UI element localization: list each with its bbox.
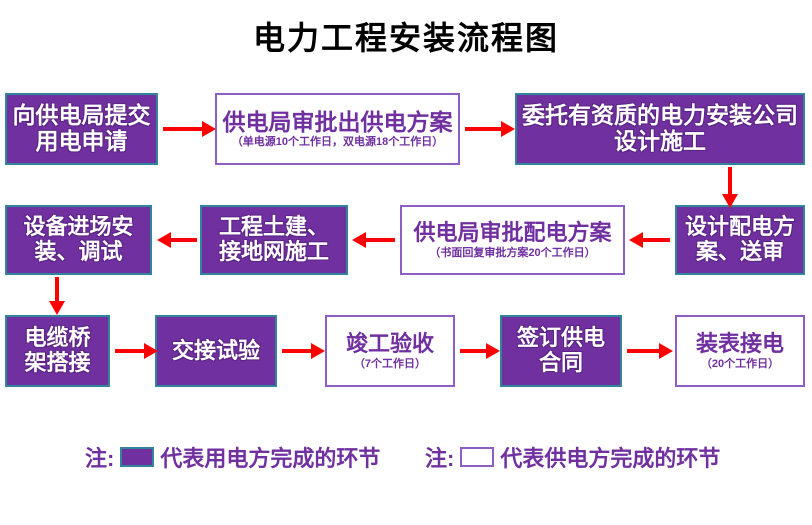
legend-customer-prefix: 注: [85, 441, 114, 473]
flow-node-sublabel: （7个工作日） [354, 358, 426, 370]
legend-utility-swatch [460, 447, 494, 467]
flow-node-handover-test[interactable]: 交接试验 [155, 315, 277, 387]
flow-node-civil-grounding-works[interactable]: 工程土建、 接地网施工 [200, 205, 348, 275]
flow-node-label: 工程土建、 接地网施工 [219, 215, 329, 264]
arrow-head-icon [144, 343, 158, 359]
flow-arrow-civil-to-equipment [170, 238, 197, 242]
arrow-head-icon [157, 232, 171, 248]
flow-node-label: 供电局审批出供电方案 [223, 110, 453, 136]
flow-node-label: 设计配电方 案、送审 [685, 215, 795, 264]
flow-node-approve-distribution-plan[interactable]: 供电局审批配电方案（书面回复审批方案20个工作日） [400, 205, 625, 275]
flow-node-label: 签订供电 合同 [517, 326, 605, 375]
arrow-head-icon [49, 301, 65, 315]
flow-node-label: 电缆桥 架搭接 [24, 326, 90, 375]
flow-arrow-test-to-acceptance [282, 349, 312, 353]
arrow-head-icon [659, 343, 673, 359]
flow-node-label: 设备进场安 装、调试 [23, 215, 133, 264]
legend-utility-label: 代表供电方完成的环节 [500, 441, 720, 473]
flow-node-equipment-install-debug[interactable]: 设备进场安 装、调试 [5, 205, 152, 275]
flow-node-cable-tray-lap[interactable]: 电缆桥 架搭接 [5, 315, 110, 387]
flow-node-sublabel: （单电源10个工作日，双电源18个工作日） [232, 136, 443, 148]
flow-arrow-approve-dist-to-civil [365, 238, 395, 242]
flow-node-meter-connect-power[interactable]: 装表接电（20个工作日） [675, 315, 805, 387]
arrow-head-icon [501, 121, 515, 137]
legend-utility: 注: 代表供电方完成的环节 [425, 441, 720, 473]
arrow-head-icon [311, 343, 325, 359]
flow-node-sublabel: （书面回复审批方案20个工作日） [429, 247, 595, 259]
flow-arrow-design-to-approve-dist [642, 238, 670, 242]
flow-arrow-equipment-to-cable-tray [55, 277, 59, 302]
flow-arrow-entrust-to-design [728, 167, 732, 195]
legend-utility-prefix: 注: [425, 441, 454, 473]
flow-arrow-approve-to-entrust [465, 127, 502, 131]
flow-arrow-apply-to-approve [163, 127, 203, 131]
flow-node-completion-acceptance[interactable]: 竣工验收（7个工作日） [325, 315, 455, 387]
flow-node-label: 竣工验收 [346, 332, 434, 357]
arrow-head-icon [629, 232, 643, 248]
flow-node-approve-supply-plan[interactable]: 供电局审批出供电方案（单电源10个工作日，双电源18个工作日） [215, 93, 460, 165]
flow-node-label: 向供电局提交 用电申请 [13, 103, 151, 155]
arrow-head-icon [202, 121, 216, 137]
flow-node-sublabel: （20个工作日） [701, 358, 779, 370]
flow-node-sign-supply-contract[interactable]: 签订供电 合同 [500, 315, 622, 387]
page-title: 电力工程安装流程图 [0, 18, 812, 58]
arrow-head-icon [722, 194, 738, 208]
flow-node-entrust-install-company[interactable]: 委托有资质的电力安装公司 设计施工 [515, 93, 805, 165]
arrow-head-icon [486, 343, 500, 359]
flow-node-design-distribution-plan[interactable]: 设计配电方 案、送审 [675, 205, 805, 275]
flow-node-label: 供电局审批配电方案 [413, 221, 611, 246]
legend-customer: 注: 代表用电方完成的环节 [85, 441, 380, 473]
legend-customer-label: 代表用电方完成的环节 [160, 441, 380, 473]
flow-arrow-acceptance-to-contract [460, 349, 487, 353]
flow-node-label: 装表接电 [696, 332, 784, 357]
arrow-head-icon [352, 232, 366, 248]
flow-arrow-contract-to-meter [627, 349, 660, 353]
flow-node-label: 交接试验 [172, 339, 260, 364]
flow-node-apply[interactable]: 向供电局提交 用电申请 [5, 93, 158, 165]
flow-node-label: 委托有资质的电力安装公司 设计施工 [522, 103, 798, 155]
flow-arrow-cable-tray-to-test [115, 349, 145, 353]
flowchart-canvas: 电力工程安装流程图 向供电局提交 用电申请供电局审批出供电方案（单电源10个工作… [0, 0, 812, 525]
legend-customer-swatch [120, 447, 154, 467]
